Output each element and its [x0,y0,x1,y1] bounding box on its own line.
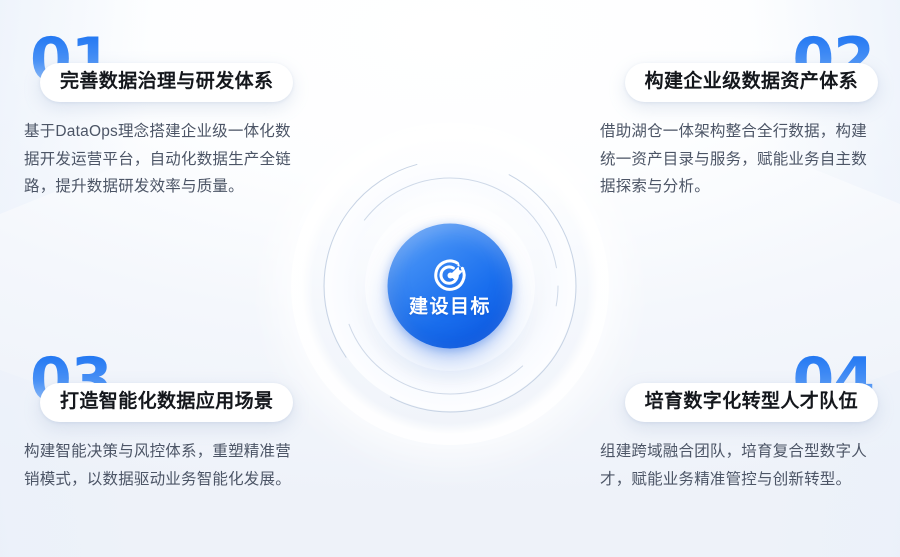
center-goal-label: 建设目标 [409,298,491,317]
quadrant-03: 03 打造智能化数据应用场景 构建智能决策与风控体系，重塑精准营销模式，以数据驱… [22,350,322,493]
quadrant-03-body: 构建智能决策与风控体系，重塑精准营销模式，以数据驱动业务智能化发展。 [24,438,302,493]
quadrant-03-title[interactable]: 打造智能化数据应用场景 [40,383,293,422]
quadrant-01-title[interactable]: 完善数据治理与研发体系 [40,63,293,102]
quadrant-02: 02 构建企业级数据资产体系 借助湖仓一体架构整合全行数据，构建统一资产目录与服… [578,30,878,201]
quadrant-01-header: 01 完善数据治理与研发体系 [22,30,322,96]
infographic-canvas: 建设目标 01 完善数据治理与研发体系 基于DataOps理念搭建企业级一体化数… [0,0,900,557]
quadrant-04-header: 04 培育数字化转型人才队伍 [578,350,878,416]
quadrant-01: 01 完善数据治理与研发体系 基于DataOps理念搭建企业级一体化数据开发运营… [22,30,322,201]
quadrant-02-header: 02 构建企业级数据资产体系 [578,30,878,96]
center-goal-circle[interactable]: 建设目标 [388,224,513,349]
quadrant-01-body: 基于DataOps理念搭建企业级一体化数据开发运营平台，自动化数据生产全链路，提… [24,118,302,201]
quadrant-04: 04 培育数字化转型人才队伍 组建跨域融合团队，培育复合型数字人才，赋能业务精准… [578,350,878,493]
quadrant-04-title[interactable]: 培育数字化转型人才队伍 [625,383,878,422]
quadrant-02-body: 借助湖仓一体架构整合全行数据，构建统一资产目录与服务，赋能业务自主数据探索与分析… [600,118,878,201]
quadrant-03-header: 03 打造智能化数据应用场景 [22,350,322,416]
quadrant-04-body: 组建跨域融合团队，培育复合型数字人才，赋能业务精准管控与创新转型。 [600,438,878,493]
quadrant-02-title[interactable]: 构建企业级数据资产体系 [625,63,878,102]
target-dart-icon [430,256,470,296]
